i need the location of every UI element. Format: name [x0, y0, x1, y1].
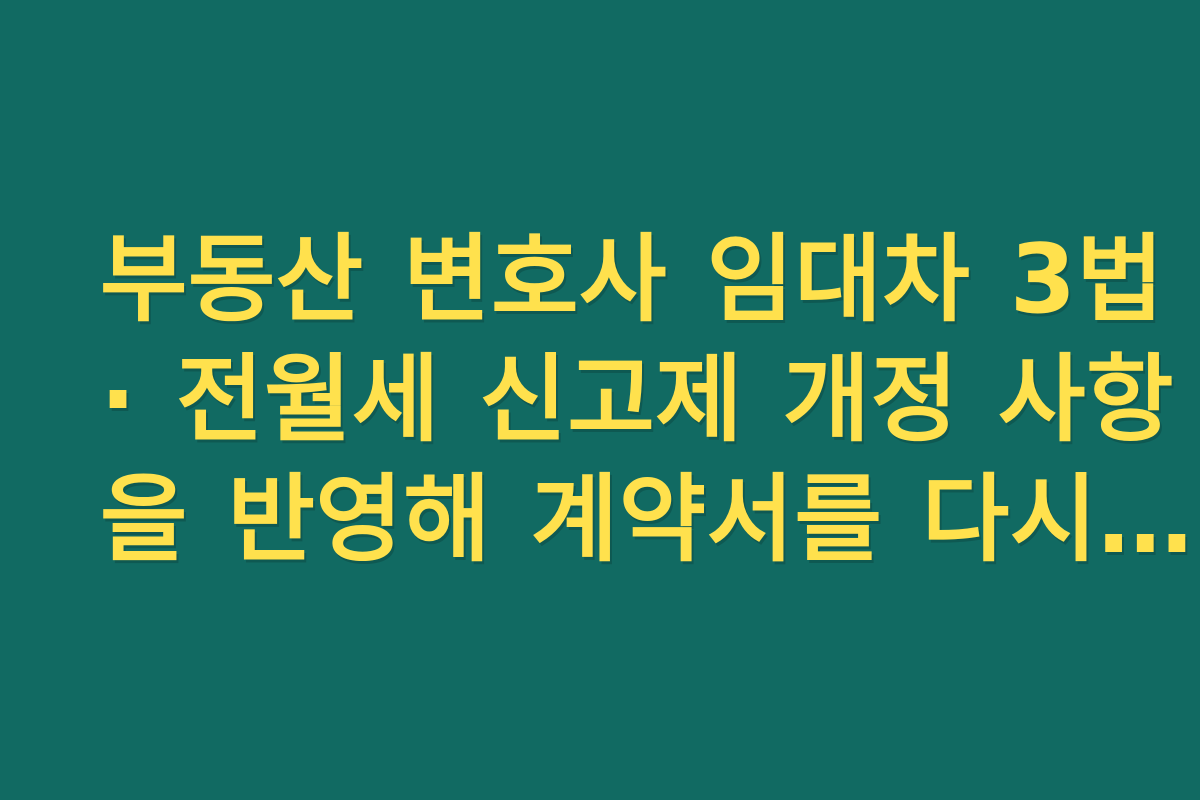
thumbnail-card: 부동산 변호사 임대차 3법 · 전월세 신고제 개정 사항 을 반영해 계약서…	[0, 0, 1200, 800]
headline-line-1: 부동산 변호사 임대차 3법	[100, 220, 1100, 340]
headline-line-2: · 전월세 신고제 개정 사항	[100, 340, 1100, 460]
headline-text-block: 부동산 변호사 임대차 3법 · 전월세 신고제 개정 사항 을 반영해 계약서…	[100, 220, 1100, 580]
headline-line-3: 을 반영해 계약서를 다시…	[100, 460, 1100, 580]
